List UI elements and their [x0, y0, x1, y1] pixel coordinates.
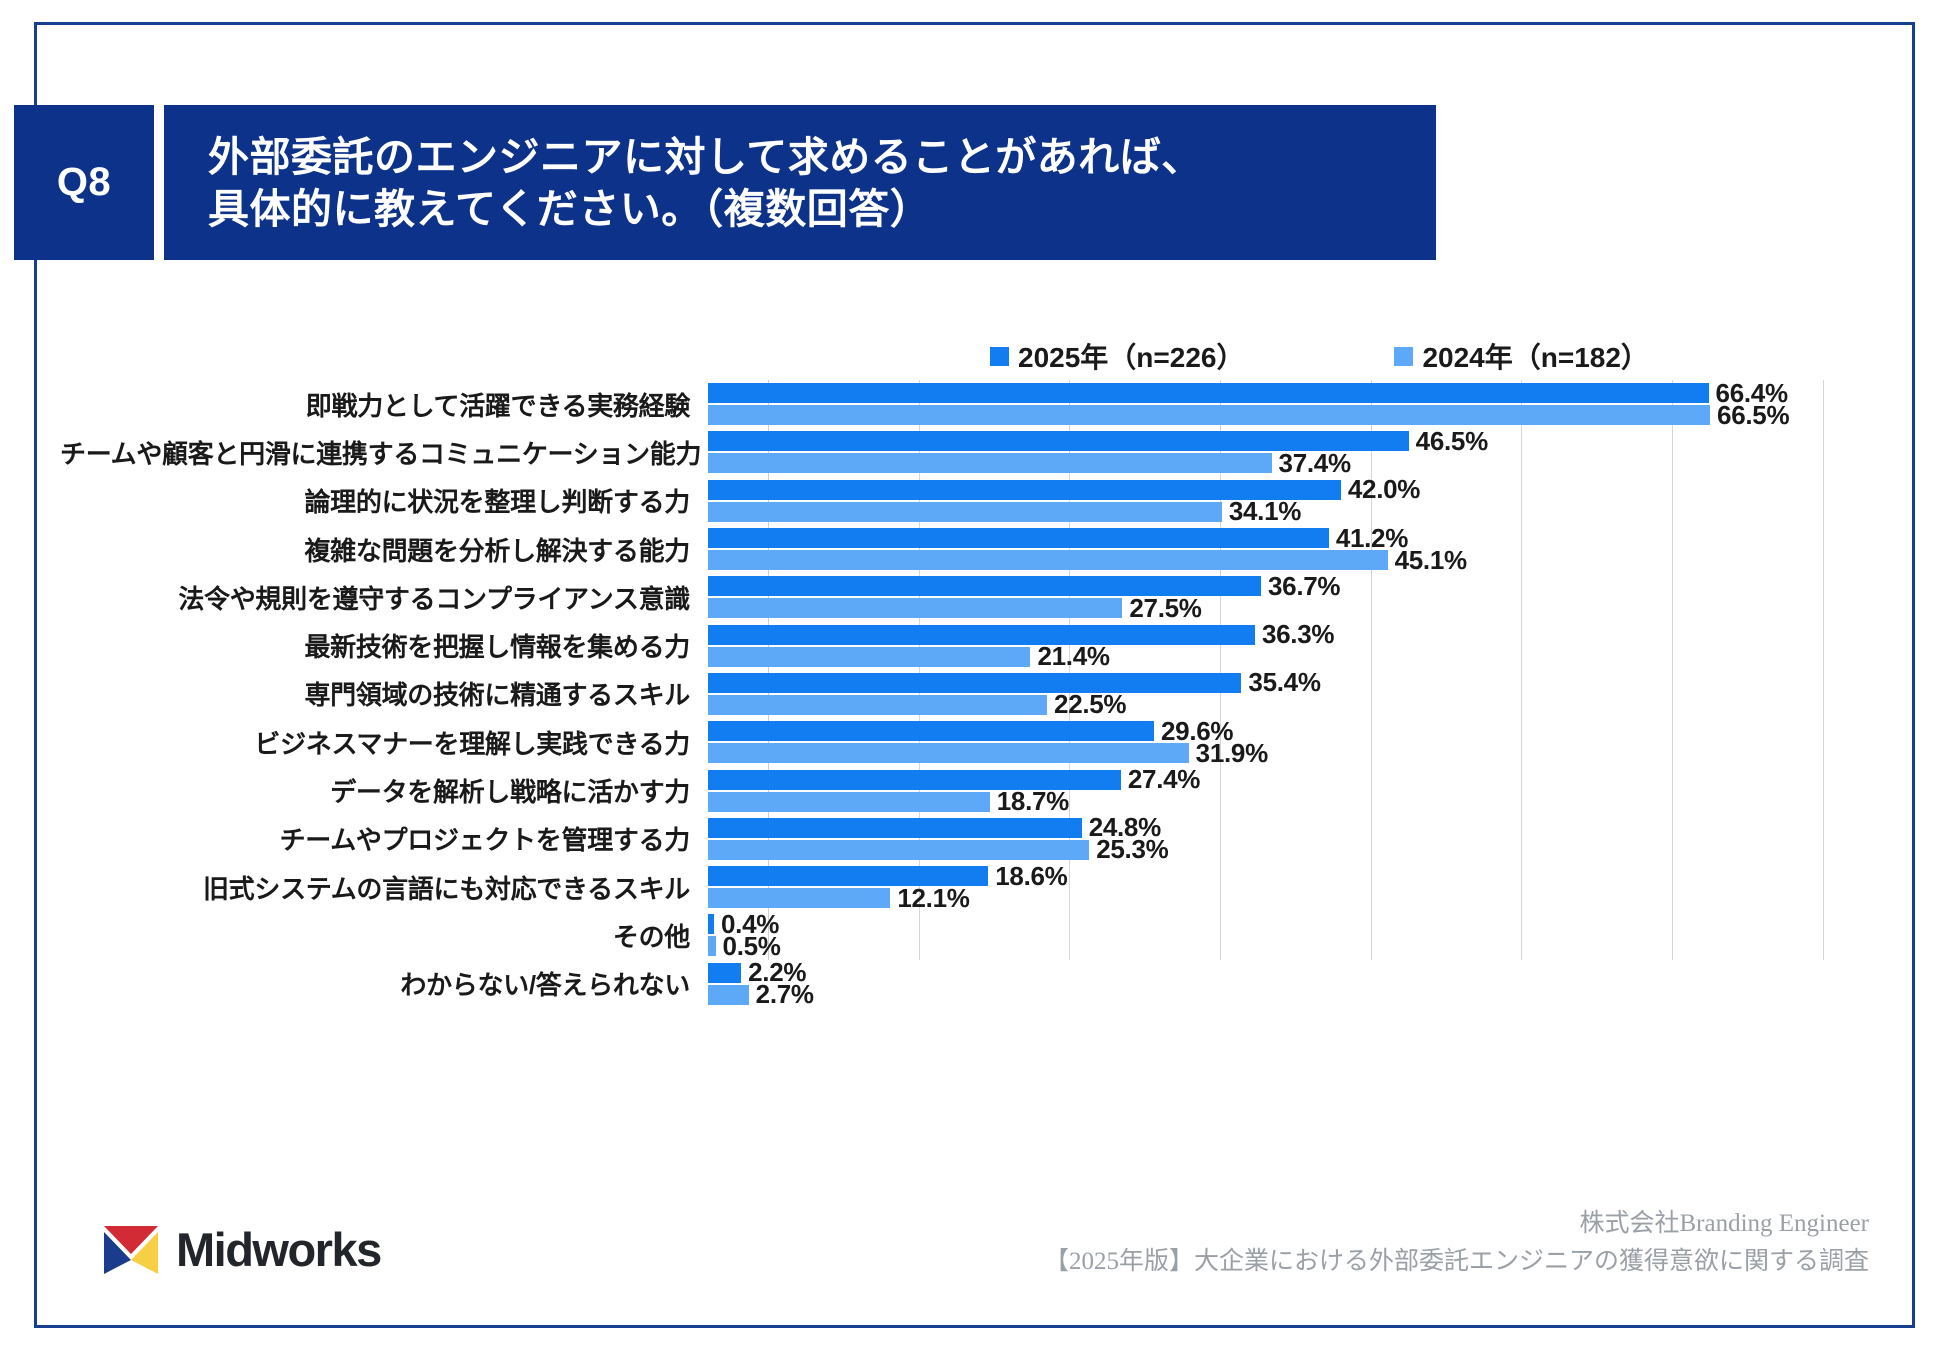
bar-2024[interactable] — [708, 405, 1710, 425]
category-label: わからない/答えられない — [60, 965, 708, 1002]
bar-value-label: 34.1% — [1229, 496, 1301, 527]
bar-line: 0.4% — [708, 914, 1880, 934]
bar-2024[interactable] — [708, 743, 1189, 763]
bar-group: 66.4%66.5% — [708, 380, 1880, 428]
category-label: チームやプロジェクトを管理する力 — [60, 820, 708, 857]
footer-attribution: 株式会社Branding Engineer 【2025年版】大企業における外部委… — [1044, 1205, 1869, 1281]
bar-2025[interactable] — [708, 818, 1082, 838]
bar-value-label: 22.5% — [1054, 689, 1126, 720]
category-label: データを解析し戦略に活かす力 — [60, 772, 708, 809]
bar-line: 0.5% — [708, 936, 1880, 956]
midworks-logo-text: Midworks — [176, 1222, 381, 1277]
question-number-text: Q8 — [57, 160, 111, 205]
chart-legend: 2025年（n=226）2024年（n=182） — [990, 336, 1649, 376]
bar-line: 41.2% — [708, 528, 1880, 548]
bar-group: 41.2%45.1% — [708, 525, 1880, 573]
bar-value-label: 27.4% — [1128, 764, 1200, 795]
bar-line: 35.4% — [708, 673, 1880, 693]
category-label: 即戦力として活躍できる実務経験 — [60, 386, 708, 423]
bar-value-label: 37.4% — [1279, 448, 1351, 479]
chart-row: チームや顧客と円滑に連携するコミュニケーション能力46.5%37.4% — [60, 428, 1880, 476]
bar-line: 27.5% — [708, 598, 1880, 618]
legend-item-0[interactable]: 2025年（n=226） — [990, 336, 1244, 376]
bar-line: 31.9% — [708, 743, 1880, 763]
bar-group: 46.5%37.4% — [708, 428, 1880, 476]
chart-row: わからない/答えられない2.2%2.7% — [60, 960, 1880, 1008]
bar-2024[interactable] — [708, 888, 890, 908]
bar-2025[interactable] — [708, 673, 1241, 693]
slide-root: Q8 外部委託のエンジニアに対して求めることがあれば、 具体的に教えてください。… — [0, 0, 1949, 1350]
bar-value-label: 2.7% — [756, 979, 814, 1010]
chart-row: その他0.4%0.5% — [60, 911, 1880, 959]
bar-group: 36.3%21.4% — [708, 621, 1880, 669]
bar-line: 12.1% — [708, 888, 1880, 908]
chart-row: 論理的に状況を整理し判断する力42.0%34.1% — [60, 477, 1880, 525]
bar-line: 29.6% — [708, 721, 1880, 741]
category-label: その他 — [60, 917, 708, 954]
bar-line: 25.3% — [708, 840, 1880, 860]
bar-line: 27.4% — [708, 770, 1880, 790]
bar-group: 35.4%22.5% — [708, 670, 1880, 718]
chart-row: 複雑な問題を分析し解決する能力41.2%45.1% — [60, 525, 1880, 573]
bar-2025[interactable] — [708, 625, 1255, 645]
midworks-logo: Midworks — [100, 1218, 381, 1280]
bar-2024[interactable] — [708, 936, 716, 956]
category-label: 論理的に状況を整理し判断する力 — [60, 482, 708, 519]
bar-value-label: 35.4% — [1248, 667, 1320, 698]
chart-rows: 即戦力として活躍できる実務経験66.4%66.5%チームや顧客と円滑に連携するコ… — [60, 380, 1880, 1008]
bar-chart: 即戦力として活躍できる実務経験66.4%66.5%チームや顧客と円滑に連携するコ… — [60, 380, 1880, 960]
bar-2024[interactable] — [708, 598, 1122, 618]
bar-value-label: 42.0% — [1348, 474, 1420, 505]
bar-2025[interactable] — [708, 914, 714, 934]
bar-line: 66.5% — [708, 405, 1880, 425]
bar-value-label: 31.9% — [1196, 738, 1268, 769]
bar-2024[interactable] — [708, 550, 1388, 570]
bar-value-label: 12.1% — [897, 883, 969, 914]
bar-line: 24.8% — [708, 818, 1880, 838]
category-label: チームや顧客と円滑に連携するコミュニケーション能力 — [60, 434, 708, 471]
legend-label-1: 2024年（n=182） — [1422, 336, 1648, 376]
bar-2025[interactable] — [708, 383, 1709, 403]
bar-value-label: 21.4% — [1037, 641, 1109, 672]
bar-2024[interactable] — [708, 453, 1272, 473]
midworks-logo-icon — [100, 1218, 162, 1280]
bar-group: 36.7%27.5% — [708, 573, 1880, 621]
chart-row: チームやプロジェクトを管理する力24.8%25.3% — [60, 815, 1880, 863]
bar-2024[interactable] — [708, 502, 1222, 522]
category-label: 旧式システムの言語にも対応できるスキル — [60, 869, 708, 906]
question-title-line-1: 外部委託のエンジニアに対して求めることがあれば、 — [208, 131, 1436, 183]
bar-line: 37.4% — [708, 453, 1880, 473]
chart-row: データを解析し戦略に活かす力27.4%18.7% — [60, 766, 1880, 814]
bar-group: 24.8%25.3% — [708, 815, 1880, 863]
bar-line: 22.5% — [708, 695, 1880, 715]
bar-value-label: 25.3% — [1096, 834, 1168, 865]
chart-row: 最新技術を把握し情報を集める力36.3%21.4% — [60, 621, 1880, 669]
legend-swatch-2025 — [990, 347, 1009, 366]
bar-group: 29.6%31.9% — [708, 718, 1880, 766]
footer-survey-title: 【2025年版】大企業における外部委託エンジニアの獲得意欲に関する調査 — [1044, 1243, 1869, 1281]
bar-2024[interactable] — [708, 792, 990, 812]
bar-group: 0.4%0.5% — [708, 911, 1880, 959]
bar-value-label: 46.5% — [1416, 426, 1488, 457]
chart-row: ビジネスマナーを理解し実践できる力29.6%31.9% — [60, 718, 1880, 766]
bar-value-label: 36.3% — [1262, 619, 1334, 650]
bar-line: 2.7% — [708, 985, 1880, 1005]
bar-line: 18.6% — [708, 866, 1880, 886]
bar-2025[interactable] — [708, 721, 1154, 741]
question-title-bar: 外部委託のエンジニアに対して求めることがあれば、 具体的に教えてください。（複数… — [164, 105, 1436, 260]
legend-item-1[interactable]: 2024年（n=182） — [1394, 336, 1648, 376]
bar-2024[interactable] — [708, 985, 749, 1005]
footer-company: 株式会社Branding Engineer — [1044, 1205, 1869, 1243]
question-title-line-2: 具体的に教えてください。（複数回答） — [208, 183, 1436, 235]
bar-value-label: 66.5% — [1717, 400, 1789, 431]
bar-line: 18.7% — [708, 792, 1880, 812]
bar-line: 2.2% — [708, 963, 1880, 983]
bar-group: 18.6%12.1% — [708, 863, 1880, 911]
chart-row: 即戦力として活躍できる実務経験66.4%66.5% — [60, 380, 1880, 428]
chart-row: 旧式システムの言語にも対応できるスキル18.6%12.1% — [60, 863, 1880, 911]
category-label: ビジネスマナーを理解し実践できる力 — [60, 724, 708, 761]
bar-value-label: 18.7% — [997, 786, 1069, 817]
legend-label-0: 2025年（n=226） — [1018, 336, 1244, 376]
bar-value-label: 36.7% — [1268, 571, 1340, 602]
bar-2024[interactable] — [708, 695, 1047, 715]
bar-value-label: 18.6% — [995, 861, 1067, 892]
bar-line: 36.7% — [708, 576, 1880, 596]
bar-line: 34.1% — [708, 502, 1880, 522]
bar-value-label: 45.1% — [1395, 545, 1467, 576]
category-label: 最新技術を把握し情報を集める力 — [60, 627, 708, 664]
bar-group: 42.0%34.1% — [708, 477, 1880, 525]
chart-row: 専門領域の技術に精通するスキル35.4%22.5% — [60, 670, 1880, 718]
question-number-badge: Q8 — [14, 105, 154, 260]
legend-swatch-2024 — [1394, 347, 1413, 366]
bar-2024[interactable] — [708, 647, 1030, 667]
category-label: 専門領域の技術に精通するスキル — [60, 675, 708, 712]
bar-2025[interactable] — [708, 963, 741, 983]
bar-group: 2.2%2.7% — [708, 960, 1880, 1008]
bar-line: 36.3% — [708, 625, 1880, 645]
category-label: 複雑な問題を分析し解決する能力 — [60, 531, 708, 568]
bar-group: 27.4%18.7% — [708, 766, 1880, 814]
bar-value-label: 27.5% — [1129, 593, 1201, 624]
chart-row: 法令や規則を遵守するコンプライアンス意識36.7%27.5% — [60, 573, 1880, 621]
bar-2024[interactable] — [708, 840, 1089, 860]
bar-2025[interactable] — [708, 528, 1329, 548]
bar-line: 45.1% — [708, 550, 1880, 570]
category-label: 法令や規則を遵守するコンプライアンス意識 — [60, 579, 708, 616]
bar-line: 21.4% — [708, 647, 1880, 667]
bar-line: 66.4% — [708, 383, 1880, 403]
